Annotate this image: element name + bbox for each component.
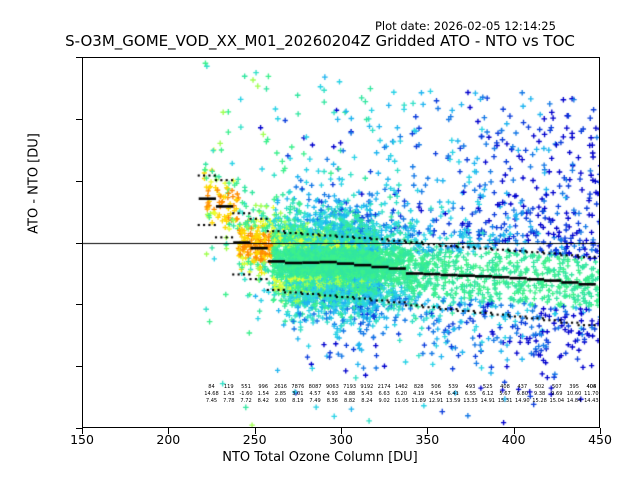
stats-value: 1.43: [223, 391, 234, 397]
stats-value: 4.93: [327, 391, 338, 397]
x-tick-label: 400: [502, 432, 526, 447]
stats-value: 119: [224, 384, 234, 390]
stats-value: 11.05: [394, 398, 409, 404]
stats-value: 8.82: [344, 398, 355, 404]
stats-value: 6.55: [465, 391, 476, 397]
stats-value: 4.19: [413, 391, 424, 397]
stats-value: 2616: [274, 384, 287, 390]
stats-value: 493: [466, 384, 476, 390]
stats-value: 8.24: [361, 398, 372, 404]
stats-value: 6.63: [378, 391, 389, 397]
stats-value: 9.02: [378, 398, 389, 404]
x-tick-mark: [255, 428, 256, 434]
stats-value: 7.49: [309, 398, 320, 404]
x-tick-label: 250: [243, 432, 267, 447]
stats-row-std: 7.457.787.728.429.008.197.498.368.828.24…: [82, 398, 600, 405]
stats-value: -1.60: [239, 391, 252, 397]
figure-container: Plot date: 2026-02-05 12:14:25 S-O3M_GOM…: [0, 0, 640, 480]
x-tick-label: 450: [588, 432, 612, 447]
stats-value: 14.90: [515, 398, 530, 404]
stats-value: 13.33: [463, 398, 478, 404]
x-tick-mark: [341, 428, 342, 434]
stats-value: 15.28: [532, 398, 547, 404]
stats-value: 408: [500, 384, 510, 390]
stats-value: 3.01: [292, 391, 303, 397]
stats-value: 12.91: [429, 398, 444, 404]
stats-value: 14.68: [204, 391, 219, 397]
scatter-plot-canvas: [83, 58, 600, 428]
stats-value: 6.41: [448, 391, 459, 397]
stats-value: 9.69: [551, 391, 562, 397]
stats-value: 9192: [360, 384, 373, 390]
stats-value: 14.91: [480, 398, 495, 404]
stats-value: 507: [552, 384, 562, 390]
stats-value: 13.59: [446, 398, 461, 404]
stats-value: 4.88: [344, 391, 355, 397]
stats-value: 408: [586, 384, 596, 390]
x-tick-mark: [427, 428, 428, 434]
stats-value: 84: [208, 384, 214, 390]
stats-value: 1462: [395, 384, 408, 390]
stats-value: 7.45: [206, 398, 217, 404]
stats-value: 15.04: [550, 398, 565, 404]
stats-value: 7193: [343, 384, 356, 390]
plot-axes-area: [82, 57, 600, 428]
stats-value: 6.20: [396, 391, 407, 397]
x-tick-label: 200: [156, 432, 180, 447]
stats-value: 525: [483, 384, 493, 390]
stats-value: 8.42: [258, 398, 269, 404]
stats-value: 7876: [291, 384, 304, 390]
x-tick-mark: [82, 428, 83, 434]
stats-value: 10.60: [567, 391, 582, 397]
stats-value: 8.19: [292, 398, 303, 404]
stats-value: 5.43: [361, 391, 372, 397]
stats-value: 2.85: [275, 391, 286, 397]
stats-value: 551: [241, 384, 251, 390]
x-tick-mark: [600, 428, 601, 434]
x-axis-label: NTO Total Ozone Column [DU]: [0, 450, 640, 465]
stats-value: 11.70: [584, 391, 599, 397]
stats-value: 7.72: [240, 398, 251, 404]
stats-value: 996: [258, 384, 268, 390]
x-tick-label: 150: [70, 432, 94, 447]
stats-value: 1.54: [258, 391, 269, 397]
stats-value: 6.80: [517, 391, 528, 397]
stats-value: 8.36: [327, 398, 338, 404]
x-tick-mark: [514, 428, 515, 434]
stats-value: 4.57: [309, 391, 320, 397]
stats-value: 6.12: [482, 391, 493, 397]
y-axis-label: ATO - NTO [DU]: [27, 54, 42, 314]
stats-value: 4.54: [430, 391, 441, 397]
stats-value: 9063: [326, 384, 339, 390]
stats-value: 539: [448, 384, 458, 390]
x-tick-mark: [168, 428, 169, 434]
stats-value: 14.84: [567, 398, 582, 404]
x-tick-label: 300: [329, 432, 353, 447]
stats-value: 7.78: [223, 398, 234, 404]
stats-value: 11.89: [411, 398, 426, 404]
stats-row-counts: 8411955199626167876808790637193919221741…: [82, 384, 600, 391]
stats-value: 15.31: [498, 398, 513, 404]
stats-value: 8087: [309, 384, 322, 390]
stats-value: 14.43: [584, 398, 599, 404]
stats-value: 395: [569, 384, 579, 390]
stats-value: 502: [535, 384, 545, 390]
stats-value: 828: [414, 384, 424, 390]
x-tick-label: 350: [415, 432, 439, 447]
stats-value: 437: [517, 384, 527, 390]
plot-date-label: Plot date: 2026-02-05 12:14:25: [375, 19, 556, 33]
stats-value: 9.00: [275, 398, 286, 404]
stats-value: 2174: [378, 384, 391, 390]
stats-value: 5.67: [499, 391, 510, 397]
stats-row-mean: 14.681.43-1.601.542.853.014.574.934.885.…: [82, 391, 600, 398]
stats-value: 9.38: [534, 391, 545, 397]
stats-value: 506: [431, 384, 441, 390]
page-title: S-O3M_GOME_VOD_XX_M01_20260204Z Gridded …: [0, 32, 640, 50]
